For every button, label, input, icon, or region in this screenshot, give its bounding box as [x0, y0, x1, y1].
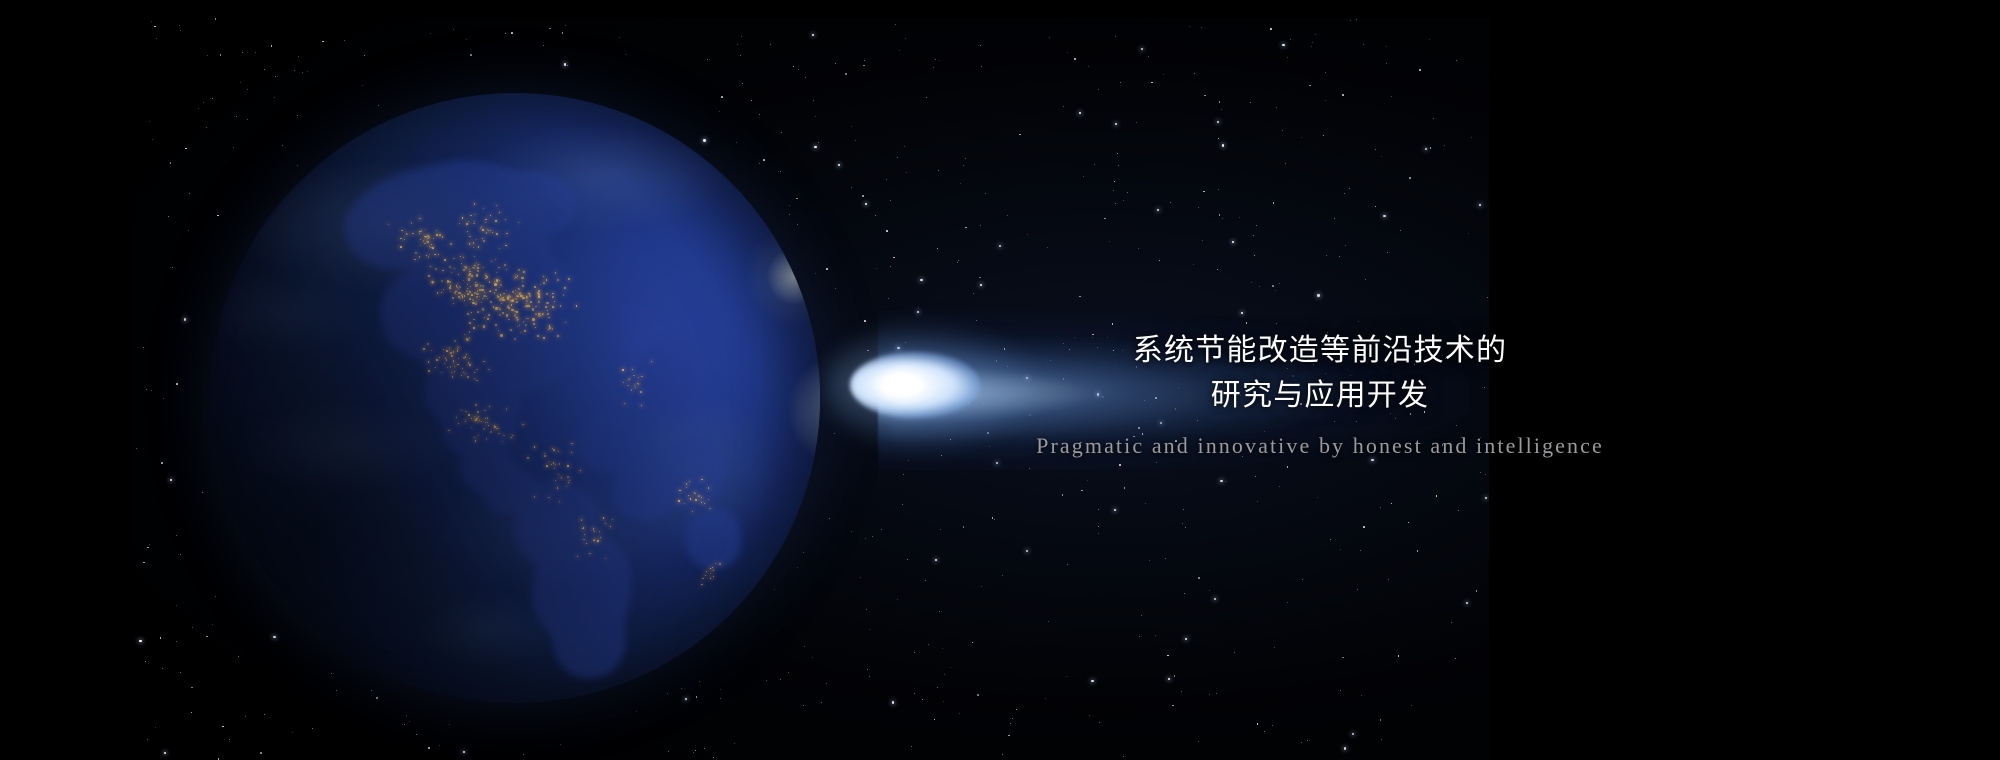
earth-night-globe: [210, 93, 820, 703]
banner-copy: 系统节能改造等前沿技术的 研究与应用开发 Pragmatic and innov…: [1000, 328, 1640, 460]
subheadline: Pragmatic and innovative by honest and i…: [1000, 432, 1640, 460]
headline-line-2: 研究与应用开发: [1000, 373, 1640, 418]
photo-top-vignette: [133, 0, 1489, 18]
globe-limb-highlight: [210, 93, 820, 703]
comet-core: [874, 366, 936, 404]
banner-stage: 系统节能改造等前沿技术的 研究与应用开发 Pragmatic and innov…: [0, 0, 2000, 760]
headline-line-1: 系统节能改造等前沿技术的: [1000, 328, 1640, 373]
